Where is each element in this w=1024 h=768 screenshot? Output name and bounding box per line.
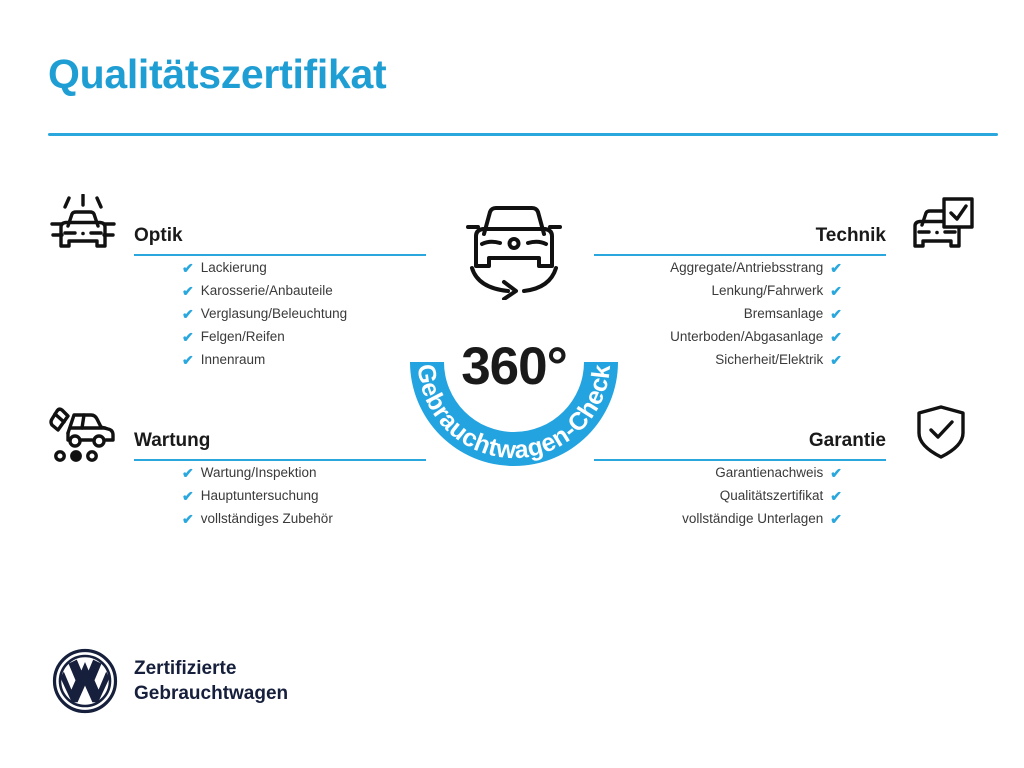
section-header-optik: Optik xyxy=(48,212,418,256)
badge-360-gebrauchtwagen-check: Gebrauchtwagen-Check 360° xyxy=(376,196,652,496)
list-item-label: Bremsanlage xyxy=(744,302,824,325)
section-header-wartung: Wartung xyxy=(48,417,418,461)
list-item-label: Garantienachweis xyxy=(715,461,823,484)
column-left: Optik ✔Lackierung ✔Karosserie/Anbauteile… xyxy=(48,212,418,530)
badge-center-label: 360° xyxy=(376,336,652,397)
column-right: Technik Aggregate/Antriebsstrang✔ Lenkun… xyxy=(606,212,976,530)
check-icon: ✔ xyxy=(182,512,194,526)
check-icon: ✔ xyxy=(182,261,194,275)
list-item: vollständige Unterlagen✔ xyxy=(606,507,842,530)
brand-line-2: Gebrauchtwagen xyxy=(134,681,288,706)
list-item-label: Wartung/Inspektion xyxy=(201,461,317,484)
list-item-label: Felgen/Reifen xyxy=(201,325,285,348)
section-wartung: Wartung ✔Wartung/Inspektion ✔Hauptunters… xyxy=(48,417,418,530)
header-divider xyxy=(48,133,998,136)
check-icon: ✔ xyxy=(182,284,194,298)
section-title-optik: Optik xyxy=(134,225,183,247)
check-icon: ✔ xyxy=(830,307,842,321)
volkswagen-logo xyxy=(52,648,118,714)
section-header-garantie: Garantie xyxy=(606,417,976,461)
section-header-technik: Technik xyxy=(606,212,976,256)
check-icon: ✔ xyxy=(830,466,842,480)
list-item-label: Aggregate/Antriebsstrang xyxy=(670,256,823,279)
brand-footer: Zertifizierte Gebrauchtwagen xyxy=(52,648,288,714)
section-title-technik: Technik xyxy=(816,225,886,247)
check-icon: ✔ xyxy=(830,261,842,275)
brand-text: Zertifizierte Gebrauchtwagen xyxy=(134,656,288,706)
check-icon: ✔ xyxy=(182,353,194,367)
list-item-label: Innenraum xyxy=(201,348,266,371)
list-item-label: Verglasung/Beleuchtung xyxy=(201,302,347,325)
check-icon: ✔ xyxy=(830,330,842,344)
brand-line-1: Zertifizierte xyxy=(134,656,288,681)
check-icon: ✔ xyxy=(182,489,194,503)
check-icon: ✔ xyxy=(182,466,194,480)
list-item-label: Qualitätszertifikat xyxy=(720,484,824,507)
section-optik: Optik ✔Lackierung ✔Karosserie/Anbauteile… xyxy=(48,212,418,371)
list-item-label: Lenkung/Fahrwerk xyxy=(711,279,823,302)
list-item-label: Karosserie/Anbauteile xyxy=(201,279,333,302)
check-icon: ✔ xyxy=(830,284,842,298)
list-item-label: Hauptuntersuchung xyxy=(201,484,319,507)
list-item-label: Sicherheit/Elektrik xyxy=(715,348,823,371)
page-title: Qualitätszertifikat xyxy=(48,52,386,97)
check-icon: ✔ xyxy=(182,330,194,344)
list-item-label: Unterboden/Abgasanlage xyxy=(670,325,823,348)
check-icon: ✔ xyxy=(830,353,842,367)
section-title-wartung: Wartung xyxy=(134,430,210,452)
section-title-garantie: Garantie xyxy=(809,430,886,452)
list-item-label: vollständige Unterlagen xyxy=(682,507,823,530)
list-item-label: vollständiges Zubehör xyxy=(201,507,333,530)
list-item: ✔vollständiges Zubehör xyxy=(182,507,418,530)
section-technik: Technik Aggregate/Antriebsstrang✔ Lenkun… xyxy=(606,212,976,371)
section-garantie: Garantie Garantienachweis✔ Qualitätszert… xyxy=(606,417,976,530)
check-icon: ✔ xyxy=(182,307,194,321)
check-icon: ✔ xyxy=(830,512,842,526)
list-item-label: Lackierung xyxy=(201,256,267,279)
certificate-page: Qualitätszertifikat xyxy=(0,0,1024,768)
check-icon: ✔ xyxy=(830,489,842,503)
